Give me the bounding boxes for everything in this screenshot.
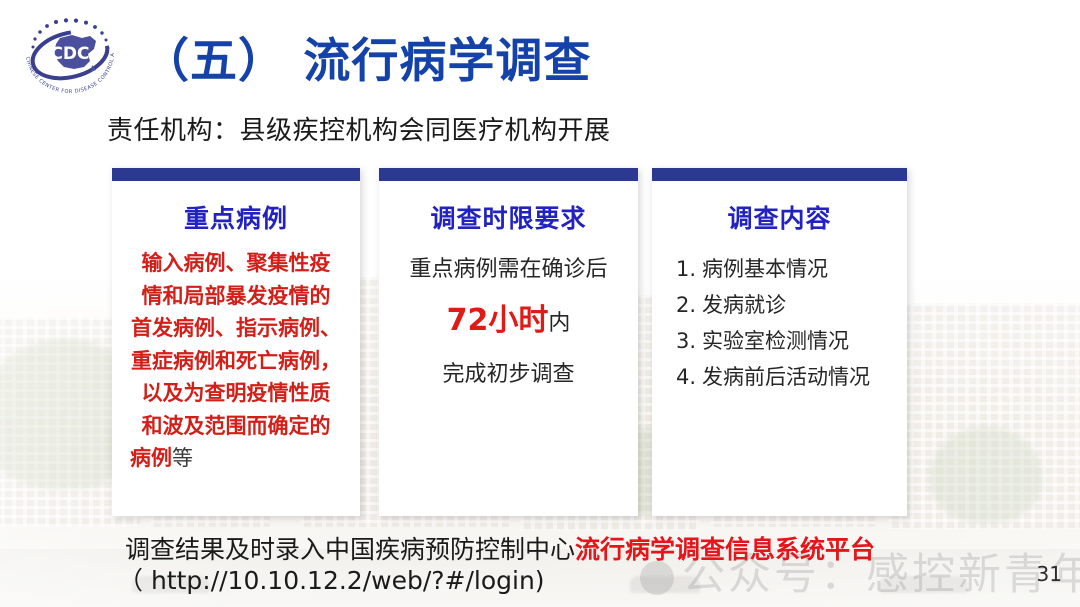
survey-item: 2.发病就诊 <box>676 287 907 323</box>
survey-item-number: 4. <box>676 365 696 389</box>
time-limit-emphasis: 72小时 <box>447 303 549 338</box>
card-survey-content: 调查内容 1.病例基本情况 2.发病就诊 3.实验室检测情况 4.发病前后活动情… <box>652 168 907 516</box>
china-cdc-logo: CDC CHINESE CENTER FOR DISEASE CONTROL A… <box>16 7 124 97</box>
survey-item-text: 实验室检测情况 <box>702 329 849 353</box>
card-body-survey-content: 1.病例基本情况 2.发病就诊 3.实验室检测情况 4.发病前后活动情况 <box>652 251 907 395</box>
time-limit-line-1: 重点病例需在确诊后 <box>379 253 638 286</box>
time-limit-tail: 内 <box>548 311 570 336</box>
survey-item: 3.实验室检测情况 <box>676 323 907 359</box>
card-time-limit: 调查时限要求 重点病例需在确诊后 72小时内 完成初步调查 <box>379 168 638 516</box>
slide-footer: 调查结果及时录入中国疾病预防控制中心流行病学调查信息系统平台 （ http://… <box>0 535 1080 596</box>
card-title-key-cases: 重点病例 <box>112 199 360 235</box>
key-case-line: 重症病例和死亡病例， <box>124 345 348 378</box>
card-body-key-cases: 输入病例、聚集性疫 情和局部暴发疫情的 首发病例、指示病例、 重症病例和死亡病例… <box>112 247 360 475</box>
survey-item-number: 3. <box>676 329 696 353</box>
survey-item-text: 发病前后活动情况 <box>702 365 870 389</box>
card-key-cases: 重点病例 输入病例、聚集性疫 情和局部暴发疫情的 首发病例、指示病例、 重症病例… <box>112 168 360 516</box>
survey-item: 4.发病前后活动情况 <box>676 359 907 395</box>
responsible-agency-line: 责任机构：县级疾控机构会同医疗机构开展 <box>107 110 611 147</box>
survey-item-number: 2. <box>676 293 696 317</box>
time-limit-line-2: 72小时内 <box>379 300 638 342</box>
survey-item: 1.病例基本情况 <box>676 251 907 287</box>
time-limit-line-3: 完成初步调查 <box>379 356 638 388</box>
card-title-time-limit: 调查时限要求 <box>379 199 638 235</box>
footer-line-1: 调查结果及时录入中国疾病预防控制中心流行病学调查信息系统平台 <box>0 535 1080 566</box>
card-body-time-limit: 重点病例需在确诊后 72小时内 完成初步调查 <box>379 253 638 388</box>
svg-text:CDC: CDC <box>50 44 89 64</box>
footer-prefix: 调查结果及时录入中国疾病预防控制中心 <box>125 535 575 564</box>
key-case-line: 以及为查明疫情性质 <box>124 377 348 410</box>
slide-canvas: 公众号：感控新青年 <box>0 0 1080 607</box>
page-title: （五） 流行病学调查 <box>142 22 591 91</box>
survey-item-number: 1. <box>676 257 696 281</box>
survey-item-text: 病例基本情况 <box>702 257 828 281</box>
key-case-line: 首发病例、指示病例、 <box>124 312 348 345</box>
card-header-bar <box>379 168 638 181</box>
key-case-line-final: 病例等 <box>124 442 348 475</box>
card-header-bar <box>652 168 907 181</box>
key-case-final-tail: 等 <box>172 446 193 470</box>
slide-header: CDC CHINESE CENTER FOR DISEASE CONTROL A… <box>0 0 1080 100</box>
key-case-line: 输入病例、聚集性疫 <box>124 247 348 280</box>
survey-item-text: 发病就诊 <box>702 293 786 317</box>
card-title-survey-content: 调查内容 <box>652 199 907 235</box>
footer-highlight: 流行病学调查信息系统平台 <box>575 535 875 564</box>
footer-line-2: （ http://10.10.12.2/web/?#/login) <box>0 566 1080 597</box>
key-case-line: 和波及范围而确定的 <box>124 410 348 443</box>
key-case-final-main: 病例 <box>130 446 172 470</box>
card-header-bar <box>112 168 360 181</box>
key-case-line: 情和局部暴发疫情的 <box>124 280 348 313</box>
page-number: 31 <box>1037 562 1062 586</box>
